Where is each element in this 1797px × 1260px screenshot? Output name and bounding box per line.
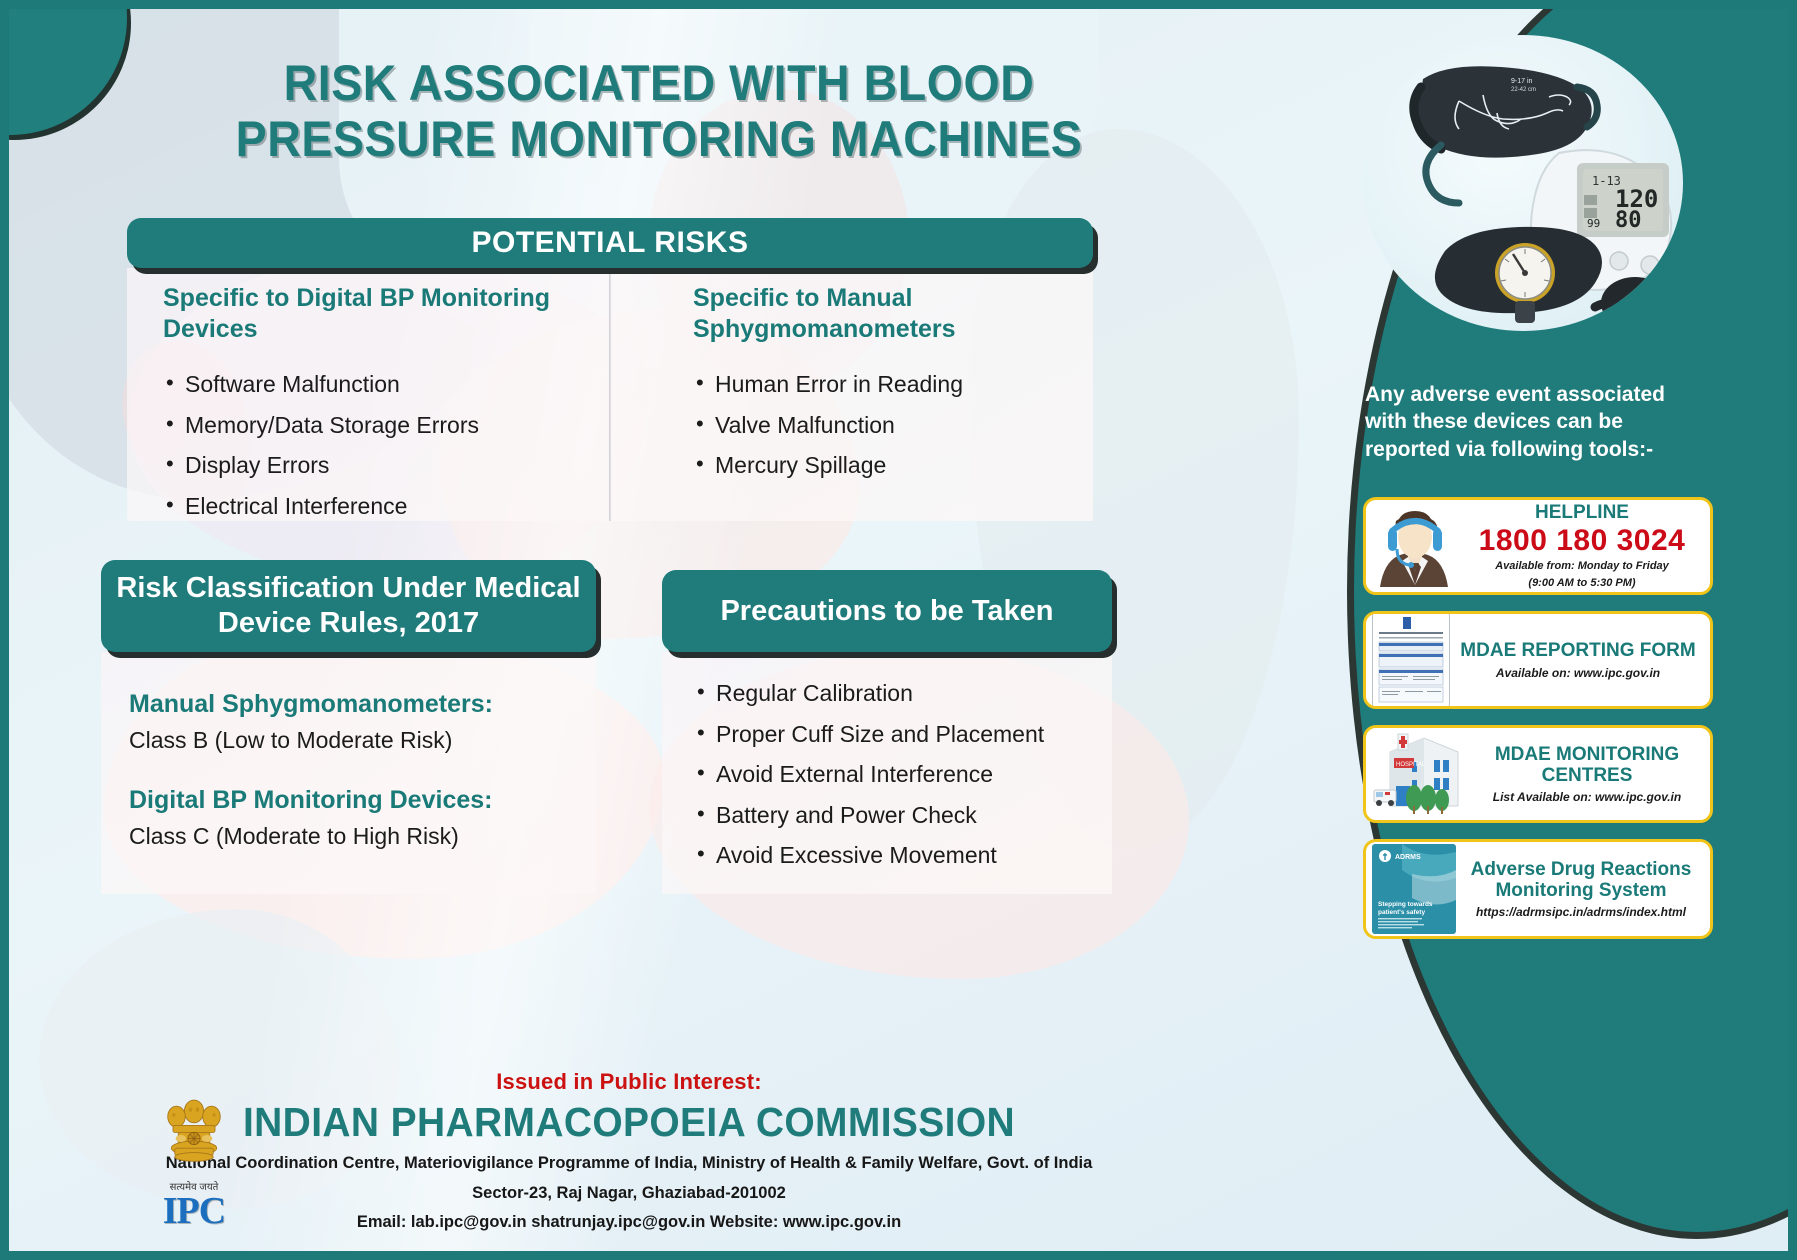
corner-circle-decoration bbox=[9, 9, 127, 135]
reporting-form-icon bbox=[1372, 613, 1450, 707]
digital-class-value: Class C (Moderate to High Risk) bbox=[129, 823, 579, 850]
svg-text:9-17 in: 9-17 in bbox=[1511, 78, 1533, 85]
page-title: RISK ASSOCIATED WITH BLOOD PRESSURE MONI… bbox=[166, 55, 1152, 167]
list-item: Proper Cuff Size and Placement bbox=[694, 721, 1094, 749]
svg-text:Stepping towards: Stepping towards bbox=[1378, 901, 1433, 908]
list-item: Software Malfunction bbox=[163, 371, 578, 399]
helpline-number[interactable]: 1800 180 3024 bbox=[1462, 524, 1702, 557]
mdae-form-availability: Available on: www.ipc.gov.in bbox=[1454, 666, 1702, 680]
adrms-brochure-icon: ADRMS Stepping towards patient's safety bbox=[1372, 844, 1456, 934]
adrms-title: Adverse Drug Reactions Monitoring System bbox=[1460, 859, 1702, 902]
list-item: Avoid External Interference bbox=[694, 761, 1094, 789]
digital-risks-list: Software Malfunction Memory/Data Storage… bbox=[163, 371, 578, 520]
manual-class-label: Manual Sphygmomanometers: bbox=[129, 690, 579, 719]
mdae-monitoring-centres-card[interactable]: HOSPITAL bbox=[1363, 725, 1713, 823]
helpline-hours-line1: Available from: Monday to Friday bbox=[1462, 560, 1702, 574]
manual-risks-list: Human Error in Reading Valve Malfunction… bbox=[693, 371, 1093, 480]
poster-canvas: RISK ASSOCIATED WITH BLOOD PRESSURE MONI… bbox=[9, 9, 1788, 1251]
precautions-header-label: Precautions to be Taken bbox=[720, 595, 1053, 628]
adrms-text-block: Adverse Drug Reactions Monitoring System… bbox=[1460, 853, 1710, 926]
list-item: Valve Malfunction bbox=[693, 412, 1093, 440]
helpline-hours-line2: (9:00 AM to 5:30 PM) bbox=[1462, 577, 1702, 591]
bp-monitors-photo: 1-13 120 80 99 bbox=[1363, 35, 1683, 331]
manual-column-heading: Specific to Manual Sphygmomanometers bbox=[693, 283, 1093, 345]
list-item: Avoid Excessive Movement bbox=[694, 842, 1094, 870]
potential-risks-header-label: POTENTIAL RISKS bbox=[472, 226, 749, 260]
precautions-header: Precautions to be Taken bbox=[662, 570, 1112, 652]
list-item: Human Error in Reading bbox=[693, 371, 1093, 399]
risk-classification-header: Risk Classification Under Medical Device… bbox=[101, 560, 596, 652]
sidebar-intro-text: Any adverse event associated with these … bbox=[1365, 381, 1705, 463]
ipc-logo-wordmark: IPC bbox=[139, 1193, 249, 1229]
adrms-url[interactable]: https://adrmsipc.in/adrms/index.html bbox=[1460, 905, 1702, 919]
list-item: Memory/Data Storage Errors bbox=[163, 412, 578, 440]
issued-in-public-interest: Issued in Public Interest: bbox=[9, 1069, 1249, 1095]
bp-devices-illustration: 1-13 120 80 99 bbox=[1363, 35, 1683, 331]
svg-text:patient's safety: patient's safety bbox=[1378, 909, 1425, 916]
list-item: Battery and Power Check bbox=[694, 802, 1094, 830]
svg-text:22-42 cm: 22-42 cm bbox=[1511, 87, 1536, 93]
list-item: Regular Calibration bbox=[694, 680, 1094, 708]
mdae-centres-availability: List Available on: www.ipc.gov.in bbox=[1472, 790, 1702, 804]
mdae-centres-title: MDAE MONITORING CENTRES bbox=[1472, 744, 1702, 787]
poster-frame: RISK ASSOCIATED WITH BLOOD PRESSURE MONI… bbox=[0, 0, 1797, 1260]
mdae-centres-text-block: MDAE MONITORING CENTRES List Available o… bbox=[1472, 738, 1710, 811]
reporting-tools-sidebar: 1-13 120 80 99 bbox=[1349, 9, 1788, 1251]
potential-risks-header: POTENTIAL RISKS bbox=[127, 218, 1093, 268]
list-item: Electrical Interference bbox=[163, 493, 578, 521]
hospital-building-icon: HOSPITAL bbox=[1372, 728, 1468, 820]
risk-classification-header-label: Risk Classification Under Medical Device… bbox=[115, 571, 582, 641]
list-item: Display Errors bbox=[163, 452, 578, 480]
precautions-panel: Regular Calibration Proper Cuff Size and… bbox=[662, 652, 1112, 894]
svg-text:80: 80 bbox=[1615, 208, 1642, 233]
digital-column-heading: Specific to Digital BP Monitoring Device… bbox=[163, 283, 578, 345]
svg-text:HOSPITAL: HOSPITAL bbox=[1396, 762, 1426, 768]
svg-text:99: 99 bbox=[1587, 217, 1600, 230]
risk-classification-panel: Manual Sphygmomanometers: Class B (Low t… bbox=[101, 652, 596, 894]
adrms-card[interactable]: ADRMS Stepping towards patient's safety … bbox=[1363, 839, 1713, 939]
digital-class-label: Digital BP Monitoring Devices: bbox=[129, 786, 579, 815]
svg-text:ADRMS: ADRMS bbox=[1395, 854, 1421, 861]
helpline-card[interactable]: HELPLINE 1800 180 3024 Available from: M… bbox=[1363, 497, 1713, 595]
mdae-form-text-block: MDAE REPORTING FORM Available on: www.ip… bbox=[1454, 634, 1710, 685]
helpline-title: HELPLINE bbox=[1462, 502, 1702, 523]
ipc-logo: सत्यमेव जयते IPC bbox=[139, 1097, 249, 1229]
precautions-list: Regular Calibration Proper Cuff Size and… bbox=[694, 680, 1094, 883]
mdae-form-title: MDAE REPORTING FORM bbox=[1454, 640, 1702, 661]
mdae-reporting-form-card[interactable]: MDAE REPORTING FORM Available on: www.ip… bbox=[1363, 611, 1713, 709]
manual-class-value: Class B (Low to Moderate Risk) bbox=[129, 727, 579, 754]
helpline-text-block: HELPLINE 1800 180 3024 Available from: M… bbox=[1462, 497, 1710, 595]
potential-risks-panel: Specific to Digital BP Monitoring Device… bbox=[127, 268, 1093, 521]
list-item: Mercury Spillage bbox=[693, 452, 1093, 480]
ashoka-emblem-icon bbox=[152, 1097, 236, 1173]
panel-gutter bbox=[609, 268, 612, 521]
headset-operator-icon bbox=[1372, 503, 1458, 589]
